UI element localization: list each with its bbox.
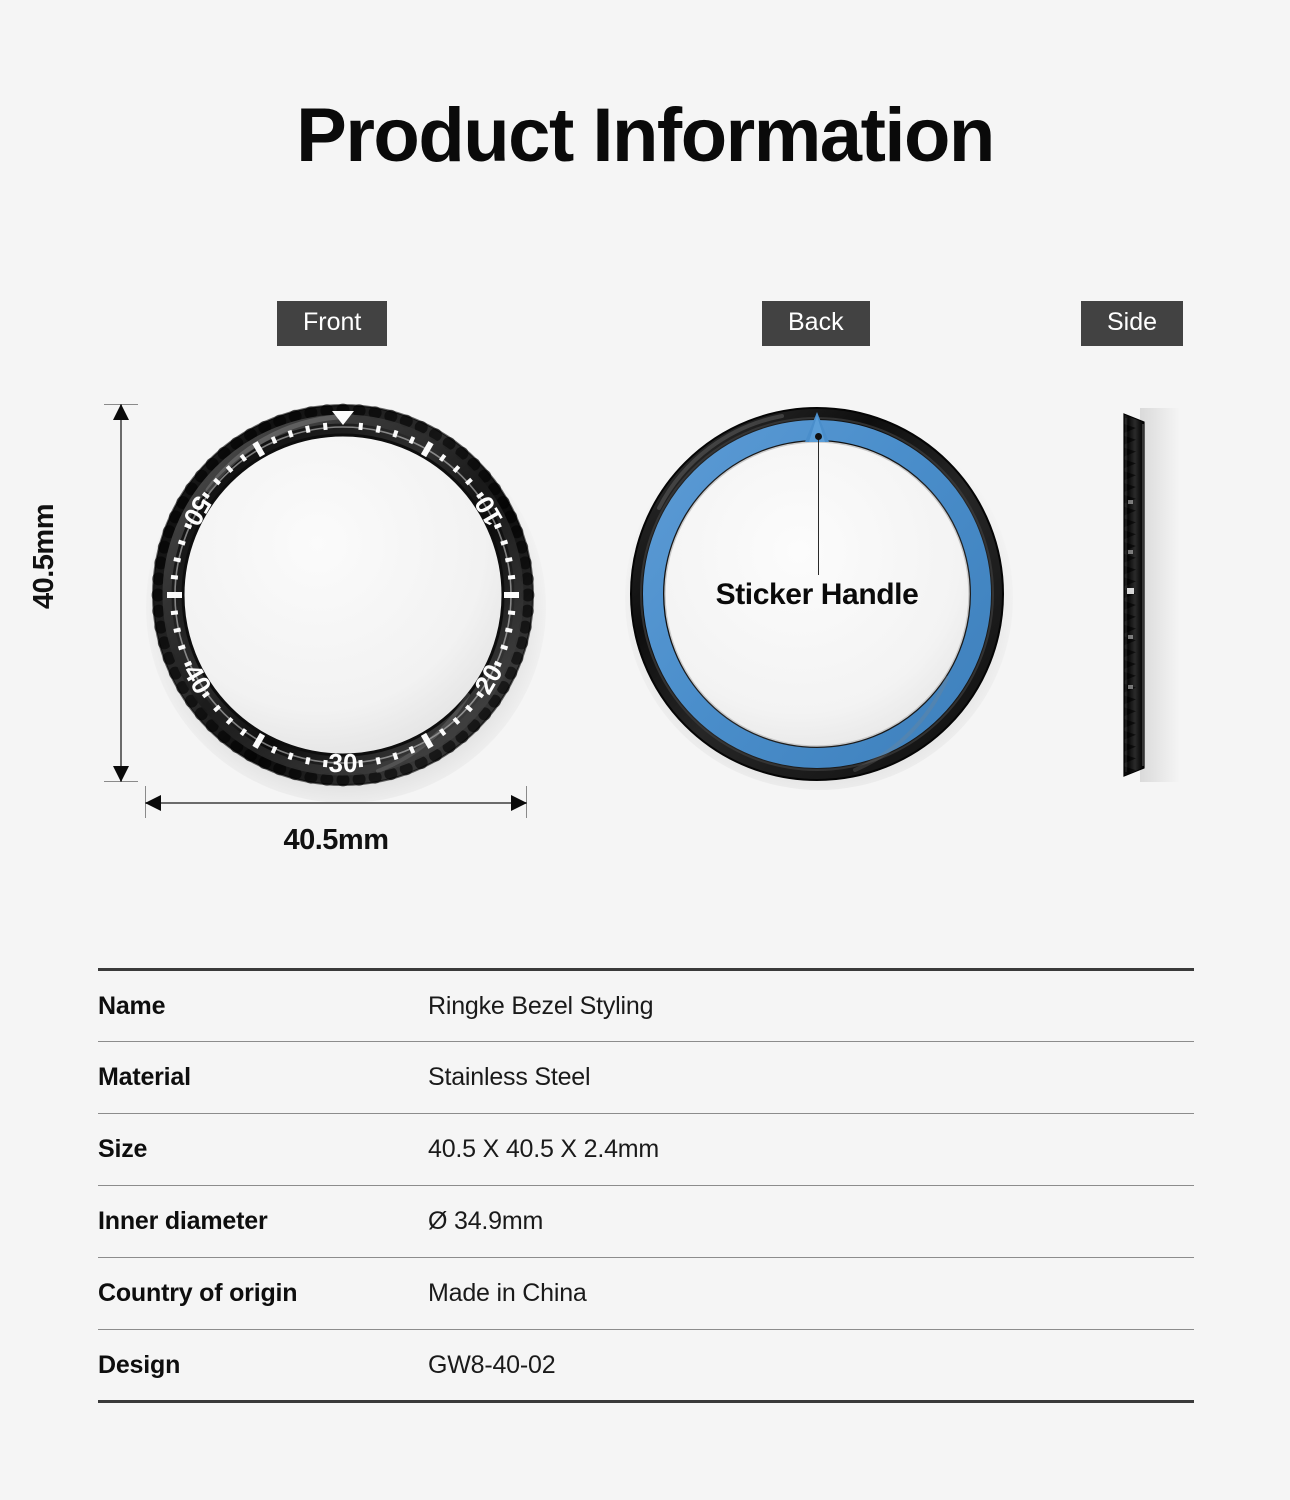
spec-label: Name [98, 970, 428, 1042]
arrow-left-icon [145, 795, 161, 811]
bezel-tick [495, 663, 501, 666]
spec-row: Size40.5 X 40.5 X 2.4mm [98, 1114, 1194, 1186]
bezel-tick [171, 577, 178, 578]
spec-label: Size [98, 1114, 428, 1186]
dimension-line-vertical [113, 404, 129, 782]
bezel-tick [508, 612, 515, 613]
bezel-tick [394, 753, 396, 760]
spec-row: Country of originMade in China [98, 1258, 1194, 1330]
dimension-line-horizontal-stroke [145, 802, 527, 804]
bezel-tick [501, 646, 508, 648]
spec-row: NameRingke Bezel Styling [98, 970, 1194, 1042]
view-badge-side: Side [1081, 301, 1183, 346]
bezel-tick [185, 663, 191, 666]
bezel-tick [501, 542, 508, 544]
spec-value: GW8-40-02 [428, 1330, 1194, 1402]
spec-value: Made in China [428, 1258, 1194, 1330]
spec-row: DesignGW8-40-02 [98, 1330, 1194, 1402]
product-view-front: 1020304050 [138, 395, 548, 795]
bezel-tick [185, 525, 191, 528]
bezel-tick [411, 437, 414, 443]
bezel-tick [495, 525, 501, 528]
spec-row: Inner diameterØ 34.9mm [98, 1186, 1194, 1258]
bezel-tick [307, 426, 308, 433]
bezel-tick [178, 542, 185, 544]
bezel-tick [290, 753, 292, 760]
spec-value: 40.5 X 40.5 X 2.4mm [428, 1114, 1194, 1186]
spec-value: Stainless Steel [428, 1042, 1194, 1114]
bezel-tick [174, 630, 181, 631]
view-badge-front: Front [277, 301, 387, 346]
spec-value: Ø 34.9mm [428, 1186, 1194, 1258]
bezel-tick [178, 646, 185, 648]
dimension-line-horizontal [145, 794, 527, 812]
bezel-tick [505, 559, 512, 560]
spec-row: MaterialStainless Steel [98, 1042, 1194, 1114]
bezel-tick [394, 430, 396, 437]
bezel-tick [508, 577, 515, 578]
bezel-tick [378, 757, 379, 764]
bezel-tick [360, 423, 361, 430]
product-spec-table: NameRingke Bezel StylingMaterialStainles… [98, 968, 1194, 1403]
view-badge-back: Back [762, 301, 870, 346]
dimension-label-height: 40.5mm [28, 504, 61, 609]
spec-value: Ringke Bezel Styling [428, 970, 1194, 1042]
product-view-side [1110, 400, 1190, 790]
bezel-tick [325, 423, 326, 430]
arrow-down-icon [113, 766, 129, 782]
spec-label: Country of origin [98, 1258, 428, 1330]
sticker-handle-leader-dot [815, 433, 822, 440]
bezel-tick [273, 437, 276, 443]
page-title: Product Information [0, 98, 1290, 174]
bezel-tick [171, 612, 178, 613]
bezel-numeral: 30 [329, 748, 358, 778]
spec-label: Inner diameter [98, 1186, 428, 1258]
spec-label: Design [98, 1330, 428, 1402]
bezel-tick [273, 747, 276, 753]
bezel-tick [307, 757, 308, 764]
sticker-handle-leader-line [818, 437, 819, 575]
bezel-tick [411, 747, 414, 753]
sticker-handle-label: Sticker Handle [617, 578, 1017, 612]
bezel-tick [378, 426, 379, 433]
bezel-tick [360, 760, 361, 767]
arrow-up-icon [113, 404, 129, 420]
bezel-tick [505, 630, 512, 631]
bezel-tick [174, 559, 181, 560]
dimension-label-width: 40.5mm [145, 824, 527, 857]
dimension-line-vertical-stroke [120, 404, 122, 782]
bezel-tick [290, 430, 292, 437]
bezel-tick [325, 760, 326, 767]
arrow-right-icon [511, 795, 527, 811]
side-index-mark [1127, 588, 1134, 594]
spec-label: Material [98, 1042, 428, 1114]
